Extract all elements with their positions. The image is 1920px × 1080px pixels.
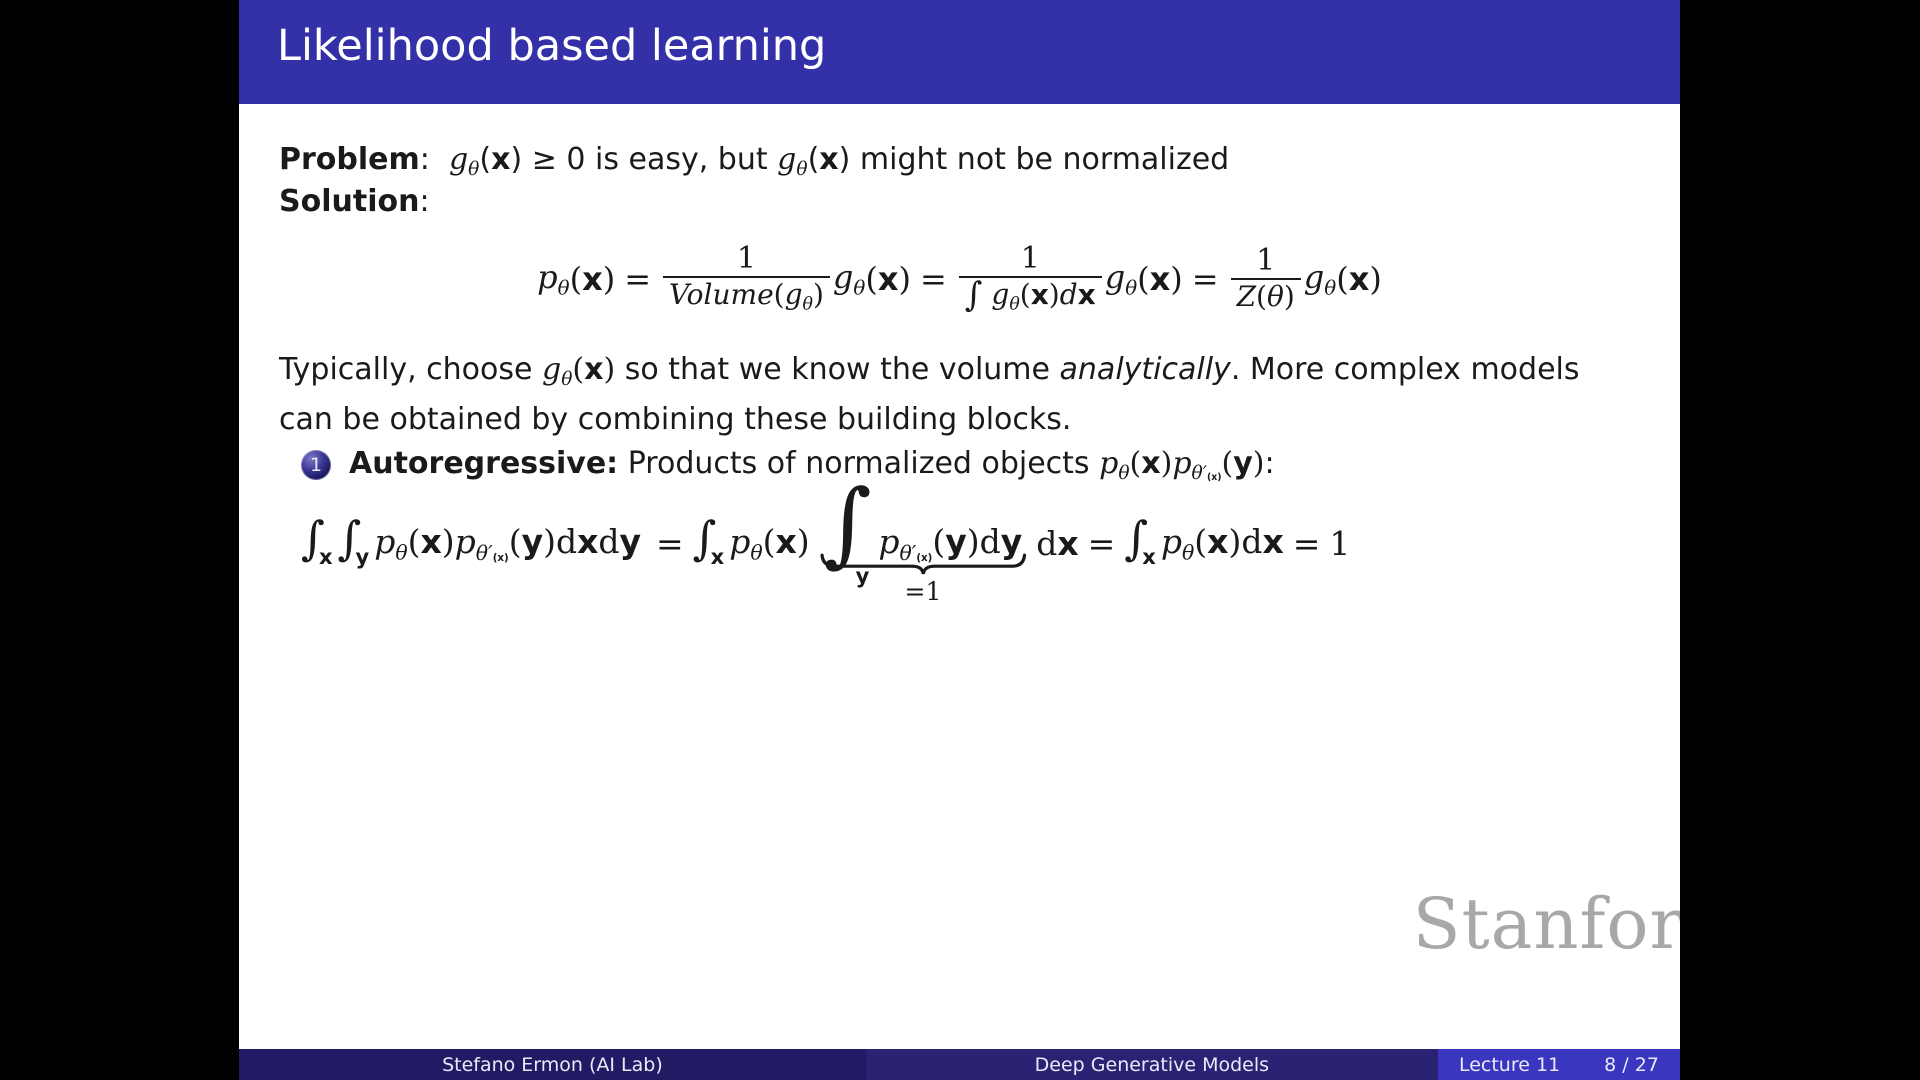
slide-footer: Stefano Ermon (AI Lab) Deep Generative M… xyxy=(239,1049,1680,1080)
integral-x-3: ∫x xyxy=(1124,518,1161,569)
fraction-1: 1 Volume(gθ) xyxy=(663,244,830,314)
bullet-text: Autoregressive: Products of normalized o… xyxy=(349,444,1275,498)
eq-sign-3: = xyxy=(1192,260,1219,298)
eq-term-2: gθ xyxy=(1105,258,1137,299)
solution-line: Solution: xyxy=(279,182,430,222)
eq-term-1: gθ xyxy=(833,258,865,299)
slide-body: Problem: gθ(x) ≥ 0 is easy, but gθ(x) mi… xyxy=(239,104,1680,1049)
integrand-3: pθ(x)dx xyxy=(1161,522,1284,565)
integrand-2: pθ(x) xyxy=(729,522,809,565)
para-part-1: Typically, choose xyxy=(279,352,542,387)
integral-x-1: ∫x xyxy=(301,518,338,569)
solution-colon: : xyxy=(419,184,429,219)
dx-term: dx xyxy=(1036,524,1078,563)
fraction-3: 1 Z(θ) xyxy=(1231,246,1301,311)
big-eq-sign-2: = xyxy=(1088,524,1116,563)
footer-course: Deep Generative Models xyxy=(866,1049,1438,1080)
slide-title-bar: Likelihood based learning xyxy=(239,0,1680,104)
big-eq-result: 1 xyxy=(1329,524,1350,563)
eq-sign-1: = xyxy=(624,260,651,298)
frac2-numerator: 1 xyxy=(1015,244,1046,276)
display-equation: pθ(x) = 1 Volume(gθ) gθ(x) = 1 ∫ gθ(x)dx… xyxy=(239,244,1680,314)
underbrace-icon xyxy=(820,553,1027,575)
frac1-denominator: Volume(gθ) xyxy=(663,278,830,314)
page-title: Likelihood based learning xyxy=(277,21,826,71)
bullet-math: pθ(x)pθ′(x)(y): xyxy=(1099,446,1274,481)
bullet-number-icon: 1 xyxy=(301,450,331,480)
frac3-denominator: Z(θ) xyxy=(1231,280,1301,311)
eq-sign-2: = xyxy=(920,260,947,298)
big-eq-sign-1: = xyxy=(656,524,684,563)
integrand-1: pθ(x)pθ′(x)(y)dxdy xyxy=(374,522,641,565)
frac2-denominator: ∫ gθ(x)dx xyxy=(959,278,1102,314)
para-italic: analytically xyxy=(1060,352,1231,387)
para-part-2: so that we know the volume xyxy=(615,352,1059,387)
frac1-numerator: 1 xyxy=(731,244,762,276)
para-math: gθ xyxy=(542,352,572,387)
footer-author: Stefano Ermon (AI Lab) xyxy=(239,1049,866,1080)
eq-term-3: gθ xyxy=(1304,258,1336,299)
footer-right: Lecture 11 8 / 27 xyxy=(1438,1049,1680,1080)
problem-statement: : gθ(x) ≥ 0 is easy, but gθ(x) might not… xyxy=(420,142,1229,177)
integral-y-1: ∫y xyxy=(338,518,375,569)
big-eq-sign-3: = xyxy=(1293,524,1321,563)
solution-label: Solution xyxy=(279,184,419,219)
problem-label: Problem xyxy=(279,142,420,177)
underbrace-label: =1 xyxy=(820,577,1027,606)
eq-lhs: pθ xyxy=(537,258,569,299)
big-equation: ∫x ∫y pθ(x)pθ′(x)(y)dxdy = ∫x pθ(x) ∫y p… xyxy=(301,499,1350,588)
underbraced-group: ∫y pθ′(x)(y)dy =1 xyxy=(820,499,1027,588)
stanford-watermark: Stanfor xyxy=(1413,883,1680,965)
typically-paragraph: Typically, choose gθ(x) so that we know … xyxy=(279,350,1639,440)
frac3-numerator: 1 xyxy=(1250,246,1281,278)
bullet-label: Autoregressive: xyxy=(349,446,618,481)
integral-x-2: ∫x xyxy=(693,518,730,569)
fraction-2: 1 ∫ gθ(x)dx xyxy=(959,244,1102,314)
footer-lecture: Lecture 11 xyxy=(1459,1054,1560,1076)
footer-page-number: 8 / 27 xyxy=(1604,1054,1659,1076)
slide-canvas: Likelihood based learning Problem: gθ(x)… xyxy=(239,0,1680,1080)
